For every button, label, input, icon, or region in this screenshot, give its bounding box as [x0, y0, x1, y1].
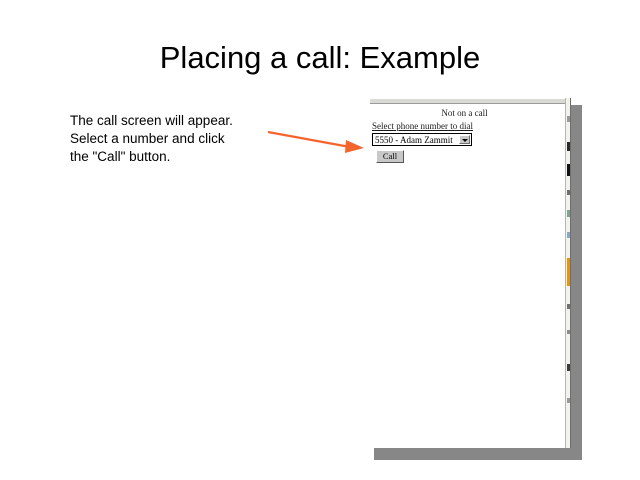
call-status-text: Not on a call — [368, 108, 565, 118]
pointer-arrow-icon — [262, 122, 370, 158]
page-title: Placing a call: Example — [0, 40, 640, 76]
call-screen-content: Not on a call Select phone number to dia… — [368, 106, 565, 446]
body-text-line-3: the "Call" button. — [70, 148, 270, 166]
body-text-line-2: Select a number and click — [70, 130, 270, 148]
slide-body-text: The call screen will appear. Select a nu… — [70, 112, 270, 166]
screenshot-panel: Not on a call Select phone number to dia… — [368, 98, 571, 448]
embedded-screenshot: Not on a call Select phone number to dia… — [368, 98, 576, 453]
call-button[interactable]: Call — [376, 150, 404, 163]
body-text-line-1: The call screen will appear. — [70, 112, 270, 130]
phone-number-select-value: 5550 - Adam Zammit — [375, 135, 453, 146]
screenshot-scrollbar-strip[interactable] — [565, 98, 570, 448]
chevron-down-icon[interactable] — [459, 135, 470, 144]
screenshot-window-chrome — [370, 99, 566, 104]
phone-number-select[interactable]: 5550 - Adam Zammit — [372, 133, 472, 146]
phone-number-field-label: Select phone number to dial — [372, 121, 565, 131]
